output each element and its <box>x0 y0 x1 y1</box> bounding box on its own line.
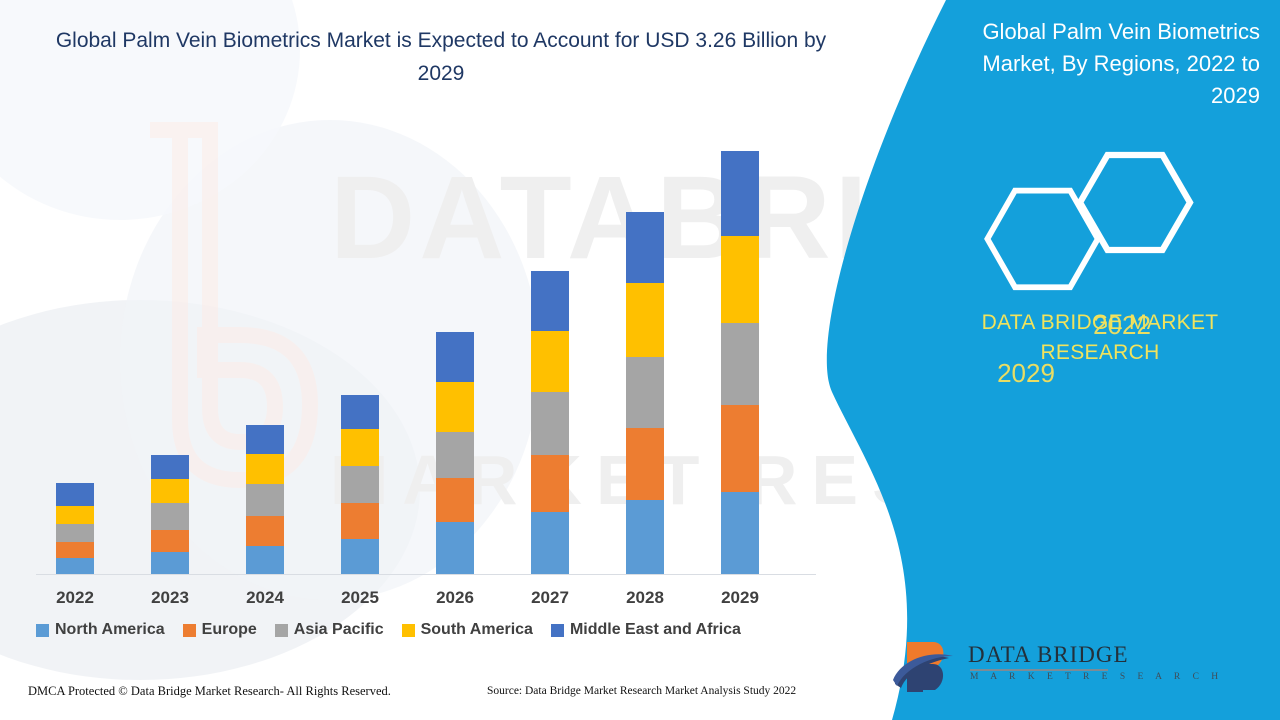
infographic-root: DATABRIDGE MARKET RESEARCH Global Palm V… <box>0 0 1280 720</box>
dbmr-logo-sub: M A R K E T R E S E A R C H <box>970 672 1223 682</box>
bar-2027[interactable] <box>531 271 569 574</box>
bar-segment-south-america[interactable] <box>246 454 284 485</box>
bar-2023[interactable] <box>151 455 189 574</box>
hexagon-group: 2022 2029 <box>900 140 1260 320</box>
bar-segment-asia-pacific[interactable] <box>531 392 569 454</box>
x-axis-label-2029: 2029 <box>700 588 780 608</box>
dbmr-mark-icon <box>893 636 965 698</box>
legend-swatch-icon <box>183 624 196 637</box>
bar-segment-north-america[interactable] <box>151 552 189 574</box>
bar-segment-north-america[interactable] <box>436 522 474 574</box>
bar-segment-asia-pacific[interactable] <box>436 432 474 477</box>
bar-segment-europe[interactable] <box>531 455 569 512</box>
x-axis-labels: 20222023202420252026202720282029 <box>20 588 820 614</box>
bar-segment-asia-pacific[interactable] <box>341 466 379 502</box>
x-axis-label-2025: 2025 <box>320 588 400 608</box>
bar-segment-south-america[interactable] <box>56 506 94 524</box>
legend-swatch-icon <box>275 624 288 637</box>
legend-label: South America <box>421 621 533 639</box>
legend-label: North America <box>55 621 165 639</box>
bar-segment-south-america[interactable] <box>436 382 474 432</box>
bar-segment-middle-east-and-africa[interactable] <box>721 151 759 236</box>
bar-segment-europe[interactable] <box>436 478 474 522</box>
bar-2024[interactable] <box>246 425 284 574</box>
bar-segment-middle-east-and-africa[interactable] <box>341 395 379 429</box>
bar-segment-asia-pacific[interactable] <box>721 323 759 405</box>
legend-item-europe[interactable]: Europe <box>183 621 257 639</box>
x-axis-label-2024: 2024 <box>225 588 305 608</box>
bar-segment-middle-east-and-africa[interactable] <box>436 332 474 382</box>
bar-2022[interactable] <box>56 483 94 574</box>
bar-segment-middle-east-and-africa[interactable] <box>56 483 94 506</box>
bar-segment-south-america[interactable] <box>151 479 189 503</box>
legend-swatch-icon <box>36 624 49 637</box>
bar-segment-asia-pacific[interactable] <box>626 357 664 427</box>
bar-segment-europe[interactable] <box>56 542 94 558</box>
x-axis-label-2028: 2028 <box>605 588 685 608</box>
bar-2025[interactable] <box>341 395 379 574</box>
legend-label: Middle East and Africa <box>570 621 741 639</box>
bar-segment-south-america[interactable] <box>626 283 664 357</box>
dbmr-logo: DATA BRIDGE M A R K E T R E S E A R C H <box>893 636 1103 698</box>
x-axis-label-2027: 2027 <box>510 588 590 608</box>
bar-segment-north-america[interactable] <box>721 492 759 574</box>
legend-swatch-icon <box>551 624 564 637</box>
x-axis-line <box>36 574 816 575</box>
bar-segment-south-america[interactable] <box>721 236 759 323</box>
dbmr-logo-rule <box>970 669 1108 671</box>
legend-item-north-america[interactable]: North America <box>36 621 165 639</box>
dbmr-logo-word: DATA BRIDGE <box>968 642 1129 668</box>
bar-segment-europe[interactable] <box>721 405 759 492</box>
bar-segment-asia-pacific[interactable] <box>56 524 94 542</box>
bar-segment-north-america[interactable] <box>531 512 569 574</box>
legend-label: Asia Pacific <box>294 621 384 639</box>
bar-segment-north-america[interactable] <box>626 500 664 574</box>
bar-2029[interactable] <box>721 151 759 574</box>
x-axis-label-2023: 2023 <box>130 588 210 608</box>
legend-item-middle-east-and-africa[interactable]: Middle East and Africa <box>551 621 741 639</box>
hexagon-shapes-icon <box>900 140 1260 320</box>
bar-segment-south-america[interactable] <box>341 429 379 466</box>
bar-segment-europe[interactable] <box>341 503 379 539</box>
bar-segment-north-america[interactable] <box>341 539 379 574</box>
page-title: Global Palm Vein Biometrics Market is Ex… <box>46 24 836 90</box>
x-axis-label-2026: 2026 <box>415 588 495 608</box>
legend-swatch-icon <box>402 624 415 637</box>
bar-2026[interactable] <box>436 332 474 574</box>
panel-title: Global Palm Vein Biometrics Market, By R… <box>960 16 1260 112</box>
bar-segment-middle-east-and-africa[interactable] <box>246 425 284 453</box>
source-note: Source: Data Bridge Market Research Mark… <box>487 685 796 697</box>
bar-segment-north-america[interactable] <box>56 558 94 574</box>
bar-segment-north-america[interactable] <box>246 546 284 574</box>
bar-segment-middle-east-and-africa[interactable] <box>626 212 664 284</box>
x-axis-label-2022: 2022 <box>35 588 115 608</box>
legend-label: Europe <box>202 621 257 639</box>
bar-segment-asia-pacific[interactable] <box>151 503 189 530</box>
bar-segment-middle-east-and-africa[interactable] <box>531 271 569 331</box>
chart-legend: North AmericaEuropeAsia PacificSouth Ame… <box>36 617 836 643</box>
bar-series-container <box>20 120 820 574</box>
bar-2028[interactable] <box>626 212 664 574</box>
bar-segment-europe[interactable] <box>246 516 284 546</box>
copyright-notice: DMCA Protected © Data Bridge Market Rese… <box>28 684 391 699</box>
panel-content: Global Palm Vein Biometrics Market, By R… <box>820 0 1280 720</box>
bar-segment-middle-east-and-africa[interactable] <box>151 455 189 479</box>
bar-segment-south-america[interactable] <box>531 331 569 392</box>
bar-segment-europe[interactable] <box>626 428 664 501</box>
legend-item-asia-pacific[interactable]: Asia Pacific <box>275 621 384 639</box>
panel-brand-text: DATA BRIDGE MARKET RESEARCH <box>940 308 1260 368</box>
bar-segment-europe[interactable] <box>151 530 189 553</box>
chart-plot-area <box>20 120 820 575</box>
bar-segment-asia-pacific[interactable] <box>246 484 284 516</box>
legend-item-south-america[interactable]: South America <box>402 621 533 639</box>
